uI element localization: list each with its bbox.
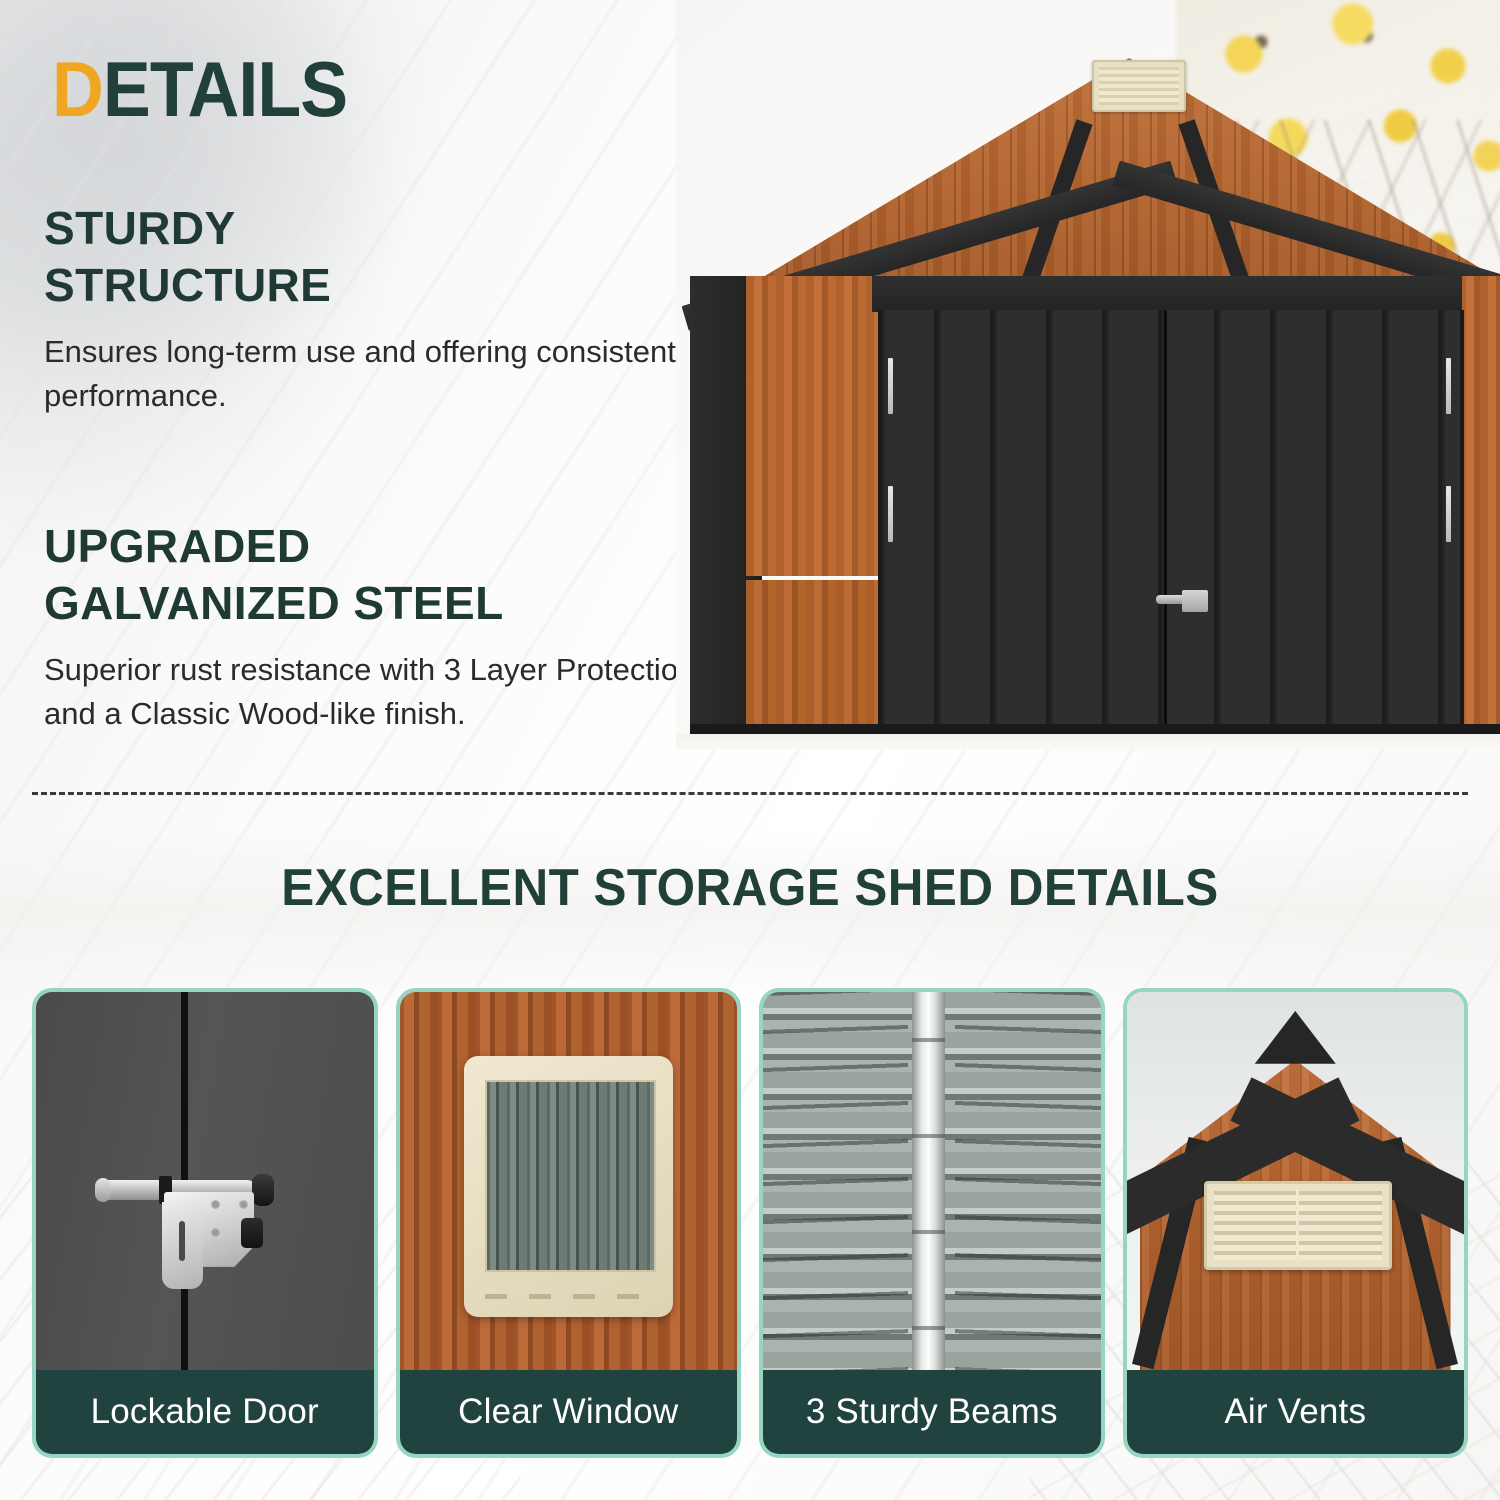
vent-center-divider	[1296, 1189, 1299, 1262]
hero-shed-image	[676, 0, 1500, 750]
infographic-page: DETAILS STURDY STRUCTURE Ensures long-te…	[0, 0, 1500, 1500]
feature-galvanized-steel: UPGRADED GALVANIZED STEEL Superior rust …	[44, 518, 704, 736]
feature-heading-line1: UPGRADED	[44, 520, 310, 572]
window-frame	[464, 1056, 673, 1317]
beam-bolts	[912, 992, 946, 1370]
padlock-slot	[179, 1221, 185, 1261]
feature-heading-line2: STRUCTURE	[44, 259, 331, 311]
shed-door-header	[872, 276, 1462, 312]
shed-door-hinge	[888, 358, 893, 414]
air-vent-icon	[1204, 1181, 1392, 1270]
window-glass	[485, 1080, 656, 1272]
card-clear-window[interactable]: Clear Window	[396, 988, 742, 1458]
feature-heading: STURDY STRUCTURE	[44, 200, 704, 314]
feature-heading-line2: GALVANIZED STEEL	[44, 577, 504, 629]
shed-gable-vent-icon	[1092, 60, 1186, 112]
shed-door-latch-icon	[1156, 588, 1210, 614]
card-sturdy-beams[interactable]: 3 Sturdy Beams	[759, 988, 1105, 1458]
latch-plate	[1182, 590, 1208, 612]
card-image-clear-window	[400, 992, 738, 1370]
feature-body: Ensures long-term use and offering consi…	[44, 330, 704, 418]
card-image-lockable-door	[36, 992, 374, 1370]
card-label: Lockable Door	[36, 1370, 374, 1454]
shed-door-hinge	[1446, 358, 1451, 414]
section-title: EXCELLENT STORAGE SHED DETAILS	[38, 858, 1463, 918]
section-divider	[32, 792, 1468, 795]
window-sill	[485, 1294, 652, 1299]
card-lockable-door[interactable]: Lockable Door	[32, 988, 378, 1458]
card-air-vents[interactable]: Air Vents	[1123, 988, 1469, 1458]
steel-ridge-beam	[912, 992, 946, 1370]
shed-door-seam	[1164, 310, 1167, 728]
detail-cards: Lockable Door Clear Window	[32, 988, 1468, 1458]
card-label: 3 Sturdy Beams	[763, 1370, 1101, 1454]
shed-door-hinge	[1446, 486, 1451, 542]
slide-bolt-latch-icon	[97, 1166, 313, 1287]
roof-slope-left	[763, 992, 908, 1370]
latch-thumb-tab	[241, 1218, 263, 1248]
latch-hasp	[162, 1202, 203, 1289]
card-label: Air Vents	[1127, 1370, 1465, 1454]
page-title-accent-letter: D	[52, 45, 103, 133]
vent-slats	[1099, 67, 1179, 105]
shed-doors	[878, 310, 1464, 728]
shed-wood-panel-right	[1458, 276, 1500, 728]
hero-ground	[676, 734, 1500, 750]
card-label: Clear Window	[400, 1370, 738, 1454]
feature-body: Superior rust resistance with 3 Layer Pr…	[44, 648, 704, 736]
latch-knob	[252, 1174, 274, 1206]
card-image-air-vents	[1127, 992, 1465, 1370]
shed-wood-panel-lower	[746, 580, 878, 728]
roof-slope-right	[955, 992, 1100, 1370]
page-title-rest: ETAILS	[103, 45, 347, 133]
shed-door-hinge	[888, 486, 893, 542]
card-image-sturdy-beams	[763, 992, 1101, 1370]
feature-sturdy-structure: STURDY STRUCTURE Ensures long-term use a…	[44, 200, 704, 418]
feature-heading-line1: STURDY	[44, 202, 236, 254]
page-title: DETAILS	[52, 50, 347, 128]
latch-rod-cap	[95, 1178, 111, 1202]
shed-wood-panel-upper	[746, 276, 878, 576]
background-band-middle	[0, 830, 1500, 1010]
feature-heading: UPGRADED GALVANIZED STEEL	[44, 518, 704, 632]
